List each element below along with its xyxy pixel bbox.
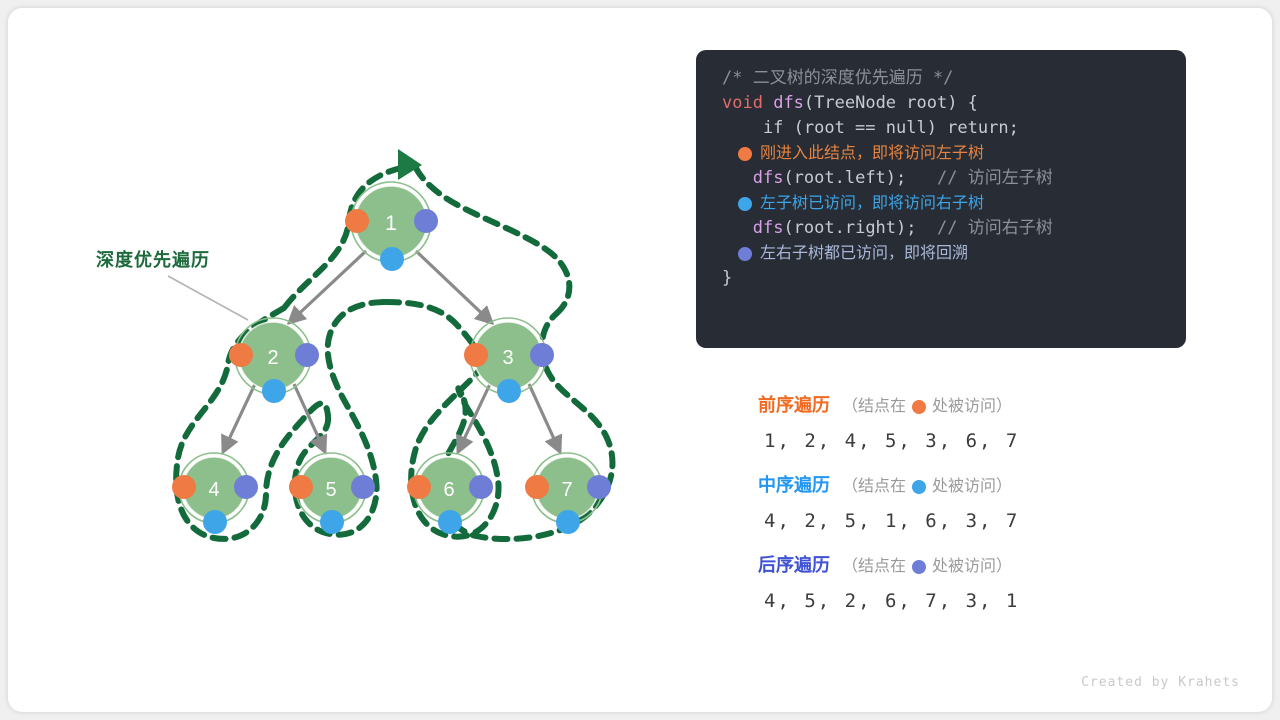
node-6-pre-dot: [407, 475, 431, 499]
node-5-pre-dot: [289, 475, 313, 499]
dfs-label: 深度优先遍历: [96, 246, 210, 272]
postorder-title: 后序遍历: [758, 554, 830, 576]
code-line-comment: /* 二叉树的深度优先遍历 */: [722, 66, 1160, 91]
postorder-caption: （结点在 处被访问）: [842, 556, 1012, 578]
dfs-right-comment: // 访问右子树: [937, 218, 1053, 238]
preorder-marker-dot-icon: [912, 400, 926, 414]
inorder-caption: （结点在 处被访问）: [842, 476, 1012, 498]
node-4-post-dot: [234, 475, 258, 499]
inorder-title: 中序遍历: [758, 474, 830, 496]
postorder-marker-dot-icon: [912, 560, 926, 574]
node-2-post-dot: [295, 343, 319, 367]
dfs-left-comment: // 访问左子树: [937, 168, 1053, 188]
code-line-dfs-left: dfs(root.left); // 访问左子树: [722, 166, 1160, 191]
node-3-value: 3: [502, 347, 513, 369]
node-2-value: 2: [267, 347, 278, 369]
dfs-left-args: (root.left);: [783, 168, 906, 188]
inorder-dot-icon: [738, 197, 752, 211]
code-note-inorder: 左子树已访问，即将访问右子树: [722, 191, 1160, 216]
signature-rest: (TreeNode root) {: [804, 93, 978, 113]
inorder-heading: 中序遍历 （结点在 处被访问）: [758, 474, 1188, 498]
code-block: /* 二叉树的深度优先遍历 */ void dfs(TreeNode root)…: [696, 50, 1186, 348]
node-4-pre-dot: [172, 475, 196, 499]
code-note-postorder: 左右子树都已访问，即将回溯: [722, 241, 1160, 266]
node-6-in-dot: [438, 510, 462, 534]
dfs-right-args: (root.right);: [783, 218, 916, 238]
code-note-preorder-text: 刚进入此结点，即将访问左子树: [760, 141, 984, 166]
node-5-in-dot: [320, 510, 344, 534]
indent-left: [722, 168, 753, 188]
node-1-in-dot: [380, 247, 404, 271]
node-7-pre-dot: [525, 475, 549, 499]
code-line-close-brace: }: [722, 266, 1160, 291]
preorder-caption-suffix: 处被访问）: [932, 396, 1012, 418]
gap-right: [917, 218, 937, 238]
postorder-heading: 后序遍历 （结点在 处被访问）: [758, 554, 1188, 578]
preorder-sequence: 1, 2, 4, 5, 3, 6, 7: [764, 430, 1188, 452]
node-7-value: 7: [561, 479, 572, 501]
node-4-in-dot: [203, 510, 227, 534]
postorder-sequence: 4, 5, 2, 6, 7, 3, 1: [764, 590, 1188, 612]
inorder-sequence: 4, 2, 5, 1, 6, 3, 7: [764, 510, 1188, 532]
function-name-dfs: dfs: [773, 93, 804, 113]
postorder-dot-icon: [738, 247, 752, 261]
function-call-dfs-left: dfs: [753, 168, 784, 188]
keyword-void: void: [722, 93, 763, 113]
node-6-value: 6: [443, 479, 454, 501]
inorder-caption-prefix: （结点在: [842, 476, 906, 498]
preorder-caption-prefix: （结点在: [842, 396, 906, 418]
edge-3-7: [529, 384, 560, 452]
postorder-caption-prefix: （结点在: [842, 556, 906, 578]
node-1-value: 1: [385, 212, 397, 235]
node-1-post-dot: [414, 209, 438, 233]
code-line-dfs-right: dfs(root.right); // 访问右子树: [722, 216, 1160, 241]
preorder-heading: 前序遍历 （结点在 处被访问）: [758, 394, 1188, 418]
code-note-inorder-text: 左子树已访问，即将访问右子树: [760, 191, 984, 216]
tree-node-6[interactable]: 6: [407, 453, 493, 534]
traversal-results: 前序遍历 （结点在 处被访问） 1, 2, 4, 5, 3, 6, 7 中序遍历…: [758, 394, 1188, 634]
node-5-post-dot: [351, 475, 375, 499]
credit-text: Created by Krahets: [1081, 675, 1240, 690]
node-2-in-dot: [262, 379, 286, 403]
postorder-caption-suffix: 处被访问）: [932, 556, 1012, 578]
preorder-title: 前序遍历: [758, 394, 830, 416]
code-line-nullcheck: if (root == null) return;: [722, 116, 1160, 141]
node-4-value: 4: [208, 479, 219, 501]
indent-right: [722, 218, 753, 238]
node-3-in-dot: [497, 379, 521, 403]
tree-node-7[interactable]: 7: [525, 453, 611, 534]
node-3-post-dot: [530, 343, 554, 367]
edge-2-4: [223, 384, 255, 452]
space-1: [763, 93, 773, 113]
function-call-dfs-right: dfs: [753, 218, 784, 238]
inorder-caption-suffix: 处被访问）: [932, 476, 1012, 498]
code-note-preorder: 刚进入此结点，即将访问左子树: [722, 141, 1160, 166]
tree-svg: 1 2 3: [8, 8, 678, 712]
tree-node-2[interactable]: 2: [229, 318, 319, 403]
figure-card: 1 2 3: [8, 8, 1272, 712]
inorder-marker-dot-icon: [912, 480, 926, 494]
edge-1-3: [416, 251, 492, 323]
gap-left: [906, 168, 937, 188]
node-1-pre-dot: [345, 209, 369, 233]
node-2-pre-dot: [229, 343, 253, 367]
node-3-pre-dot: [464, 343, 488, 367]
node-6-post-dot: [469, 475, 493, 499]
node-5-value: 5: [325, 479, 336, 501]
tree-node-3[interactable]: 3: [464, 318, 554, 403]
node-7-in-dot: [556, 510, 580, 534]
code-line-signature: void dfs(TreeNode root) {: [722, 91, 1160, 116]
binary-tree-diagram: 1 2 3: [8, 8, 678, 712]
preorder-dot-icon: [738, 147, 752, 161]
preorder-caption: （结点在 处被访问）: [842, 396, 1012, 418]
node-7-post-dot: [587, 475, 611, 499]
label-leader-line: [168, 276, 248, 320]
edge-2-5: [294, 384, 325, 452]
code-note-postorder-text: 左右子树都已访问，即将回溯: [760, 241, 968, 266]
